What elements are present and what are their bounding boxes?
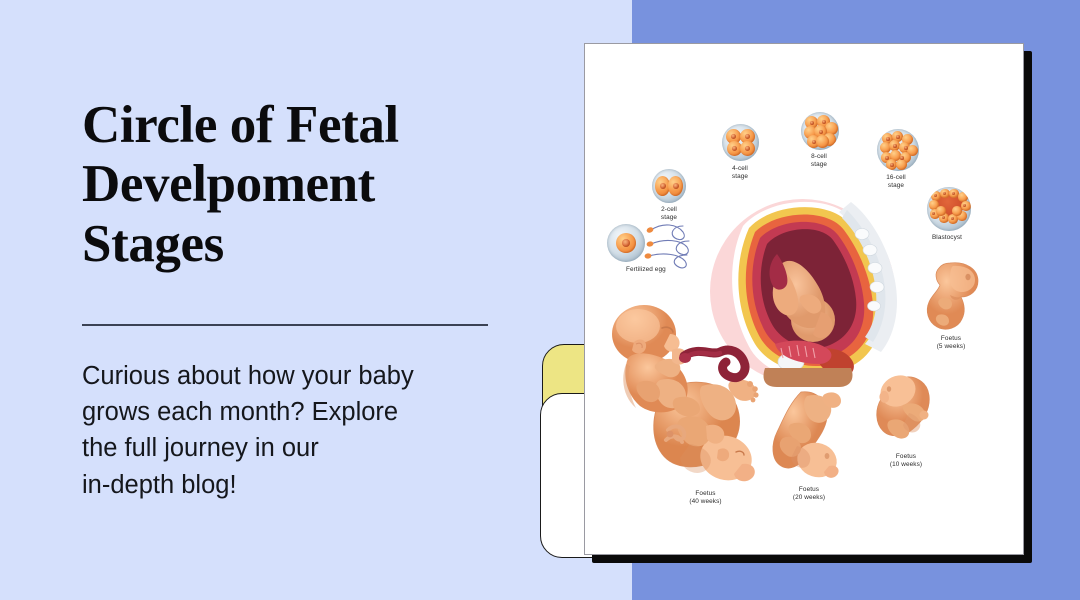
foetus-5-weeks-icon [915,259,987,333]
sixteen-cell-membrane-icon [877,129,919,171]
stage-label-eight-cell: 8-cell stage [805,153,834,169]
stage-blastocyst: Blastocyst [915,187,979,249]
stage-label-blastocyst: Blastocyst [932,234,962,242]
stage-label-four-cell: 4-cell stage [726,165,755,181]
fetal-development-diagram: Fertilized egg 2-cell stage [585,44,1023,554]
illustration-card: Fertilized egg 2-cell stage [584,43,1024,555]
poster-canvas: Circle of Fetal Develpoment Stages Curio… [0,0,1080,600]
stage-label-foetus-20-weeks: Foetus (20 weeks) [793,486,825,502]
stage-sixteen-cell: 16-cell stage [865,129,927,189]
divider-rule [82,324,488,326]
page-title: Circle of Fetal Develpoment Stages [82,96,502,274]
stage-label-foetus-40-weeks: Foetus (40 weeks) [689,490,721,506]
large-fetus-with-cord-icon [600,294,750,419]
sperm-cells-icon [639,220,701,270]
four-cell-membrane-icon [722,124,759,161]
stage-eight-cell: 8-cell stage [790,112,848,168]
stage-foetus-20-weeks: Foetus (20 weeks) [763,386,855,506]
page-subtitle: Curious about how your baby grows each m… [82,358,512,503]
foetus-10-weeks-icon [865,369,947,453]
two-cell-membrane-icon [652,169,686,203]
eight-cell-membrane-icon [801,112,839,150]
foetus-20-weeks-icon [763,386,855,486]
blastocyst-membrane-icon [927,187,971,231]
stage-foetus-10-weeks: Foetus (10 weeks) [865,369,947,473]
text-column: Circle of Fetal Develpoment Stages [82,96,502,274]
stage-foetus-5-weeks: Foetus (5 weeks) [915,259,987,355]
stage-four-cell: 4-cell stage [711,124,769,180]
stage-label-foetus-10-weeks: Foetus (10 weeks) [890,453,922,469]
stage-label-sixteen-cell: 16-cell stage [881,174,912,190]
stage-fertilized-egg: Fertilized egg [603,220,701,280]
stage-label-two-cell: 2-cell stage [656,206,682,222]
stage-two-cell: 2-cell stage [643,169,695,221]
stage-label-fertilized-egg: Fertilized egg [626,266,666,274]
stage-label-foetus-5-weeks: Foetus (5 weeks) [937,335,966,351]
